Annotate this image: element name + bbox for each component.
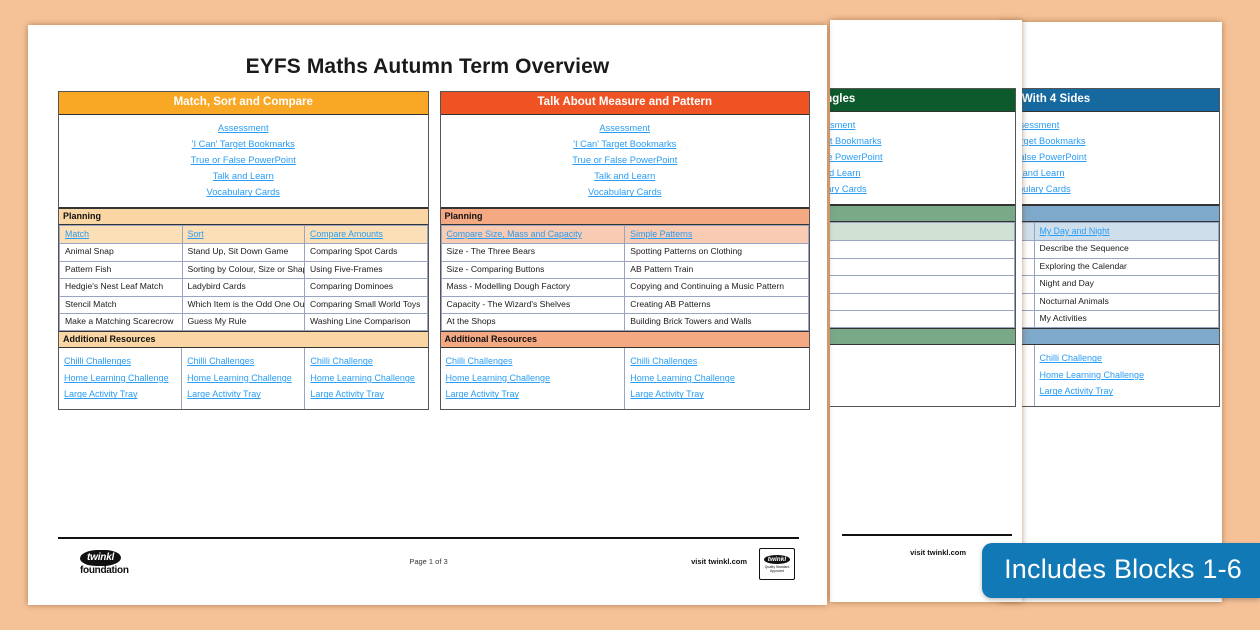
panel-header-green: Triangles bbox=[830, 89, 1015, 112]
panel-match-sort-compare: Match, Sort and Compare Assessment 'I Ca… bbox=[58, 91, 429, 410]
link-home-learning-challenge[interactable]: Home Learning Challenge bbox=[630, 370, 804, 387]
section-additional-2: Additional Resources bbox=[441, 331, 810, 348]
link-true-false-powerpoint[interactable]: True or False PowerPoint bbox=[1000, 149, 1219, 165]
quality-approved-stamp-icon: twinkl Quality Standard Approved bbox=[759, 548, 795, 580]
table-row: Size - Comparing ButtonsAB Pattern Train bbox=[441, 261, 809, 278]
links-block-green: Assessment 'I Can' Target Bookmarks True… bbox=[830, 112, 1015, 205]
table-row: SquaresExploring the Calendar bbox=[1000, 258, 1219, 275]
link-vocabulary-cards[interactable]: Vocabulary Cards bbox=[830, 181, 1015, 197]
link-home-learning-challenge[interactable]: Home Learning Challenge bbox=[64, 370, 176, 387]
includes-blocks-banner: Includes Blocks 1-6 bbox=[982, 543, 1260, 598]
visit-twinkl-label: visit twinkl.com bbox=[691, 557, 747, 566]
resource-column: Chilli Challenges Home Learning Challeng… bbox=[625, 348, 809, 409]
table-row: Small World Positional Language bbox=[830, 241, 1015, 258]
panel-blue: Shapes With 4 Sides Assessment 'I Can' T… bbox=[1000, 88, 1220, 407]
planning-table-green: Describing Position Small World Position… bbox=[830, 222, 1015, 329]
link-chilli-challenge[interactable]: Chilli Challenge bbox=[830, 350, 1010, 367]
stamp-wordmark: twinkl bbox=[764, 555, 790, 564]
visit-twinkl-label: visit twinkl.com bbox=[910, 548, 966, 557]
panel-header-blue: Shapes With 4 Sides bbox=[1000, 89, 1219, 112]
table-row: RectanglesNocturnal Animals bbox=[1000, 293, 1219, 310]
link-talk-and-learn[interactable]: Talk and Learn bbox=[830, 165, 1015, 181]
link-chilli-challenge[interactable]: Chilli Challenge bbox=[310, 353, 422, 370]
table-row: Describe the Sequence bbox=[1000, 241, 1219, 258]
link-assessment[interactable]: Assessment bbox=[441, 120, 810, 136]
table-row: At the ShopsBuilding Brick Towers and Wa… bbox=[441, 314, 809, 331]
table-header-row: Match Sort Compare Amounts bbox=[60, 225, 428, 243]
twinkl-foundation-label: foundation bbox=[80, 565, 142, 576]
section-additional-green: Additional Resources bbox=[830, 328, 1015, 345]
twinkl-wordmark: twinkl bbox=[80, 550, 121, 566]
table-row: Teddy Bear Hide-and-Seek bbox=[830, 311, 1015, 328]
link-home-learning-challenge[interactable]: Home Learning Challenge bbox=[187, 370, 299, 387]
document-page-front[interactable]: EYFS Maths Autumn Term Overview Match, S… bbox=[28, 25, 827, 605]
link-target-bookmarks[interactable]: 'I Can' Target Bookmarks bbox=[441, 136, 810, 152]
link-large-activity-tray[interactable]: Large Activity Tray bbox=[310, 386, 422, 403]
link-talk-and-learn[interactable]: Talk and Learn bbox=[59, 168, 428, 184]
link-target-bookmarks[interactable]: 'I Can' Target Bookmarks bbox=[830, 133, 1015, 149]
page-title: EYFS Maths Autumn Term Overview bbox=[28, 55, 827, 79]
table-row: Positional Language Traditional Tales Ma… bbox=[830, 293, 1015, 310]
link-true-false-powerpoint[interactable]: True or False PowerPoint bbox=[830, 149, 1015, 165]
resources-grid-green: Chilli Challenge Home Learning Challenge… bbox=[830, 345, 1015, 406]
link-large-activity-tray[interactable]: Large Activity Tray bbox=[830, 383, 1010, 400]
links-block-2: Assessment 'I Can' Target Bookmarks True… bbox=[441, 115, 810, 208]
resources-grid-2: Chilli Challenges Home Learning Challeng… bbox=[441, 348, 810, 409]
links-block-blue: Assessment 'I Can' Target Bookmarks True… bbox=[1000, 112, 1219, 205]
stamp-sublabel: Quality Standard Approved bbox=[760, 565, 794, 573]
section-additional-1: Additional Resources bbox=[59, 331, 428, 348]
table-row: Capacity - The Wizard's ShelvesCreating … bbox=[441, 296, 809, 313]
link-chilli-challenges[interactable]: Chilli Challenges bbox=[446, 353, 620, 370]
link-home-learning-challenge[interactable]: Home Learning Challenge bbox=[830, 367, 1010, 384]
link-true-false-powerpoint[interactable]: True or False PowerPoint bbox=[441, 152, 810, 168]
link-home-learning-challenge[interactable]: Home Learning Challenge bbox=[1040, 367, 1215, 384]
panel-green: Triangles Assessment 'I Can' Target Book… bbox=[830, 88, 1016, 407]
link-assessment[interactable]: Assessment bbox=[830, 117, 1015, 133]
resources-grid-1: Chilli Challenges Home Learning Challeng… bbox=[59, 348, 428, 409]
table-row: Stencil MatchWhich Item is the Odd One O… bbox=[60, 296, 428, 313]
panel-header-match-sort-compare: Match, Sort and Compare bbox=[59, 92, 428, 115]
page-stack: Shapes With 4 Sides Assessment 'I Can' T… bbox=[0, 0, 1260, 630]
link-vocabulary-cards[interactable]: Vocabulary Cards bbox=[1000, 181, 1219, 197]
link-home-learning-challenge[interactable]: Home Learning Challenge bbox=[310, 370, 422, 387]
planning-table-1: Match Sort Compare Amounts Animal SnapSt… bbox=[59, 225, 428, 332]
link-chilli-challenge[interactable]: Chilli Challenge bbox=[1040, 350, 1215, 367]
table-row: Animal SnapStand Up, Sit Down GameCompar… bbox=[60, 244, 428, 261]
planning-table-2: Compare Size, Mass and Capacity Simple P… bbox=[441, 225, 810, 332]
twinkl-logo: twinkl foundation bbox=[80, 547, 142, 581]
table-header-row: Compare Size, Mass and Capacity Simple P… bbox=[441, 225, 809, 243]
link-vocabulary-cards[interactable]: Vocabulary Cards bbox=[59, 184, 428, 200]
link-large-activity-tray[interactable]: Large Activity Tray bbox=[630, 386, 804, 403]
table-row: Hedgie's Nest Leaf MatchLadybird CardsCo… bbox=[60, 279, 428, 296]
section-planning-1: Planning bbox=[59, 208, 428, 225]
section-planning-blue: Planning bbox=[1000, 205, 1219, 222]
section-additional-blue: Additional Resources bbox=[1000, 328, 1219, 345]
link-large-activity-tray[interactable]: Large Activity Tray bbox=[64, 386, 176, 403]
planning-table-blue: Shapes My Day and Night Describe the Seq… bbox=[1000, 222, 1219, 329]
table-row: Night and Day bbox=[1000, 276, 1219, 293]
col-head-compare-amounts: Compare Amounts bbox=[305, 225, 428, 243]
table-row: Size - The Three BearsSpotting Patterns … bbox=[441, 244, 809, 261]
section-planning-2: Planning bbox=[441, 208, 810, 225]
col-head-compare-size-mass-capacity: Compare Size, Mass and Capacity bbox=[441, 225, 625, 243]
footer-front: twinkl foundation Page 1 of 3 visit twin… bbox=[58, 537, 799, 585]
link-large-activity-tray[interactable]: Large Activity Tray bbox=[1040, 383, 1215, 400]
col-head-simple-patterns: Simple Patterns bbox=[625, 225, 809, 243]
page-number: Page 1 of 3 bbox=[409, 557, 447, 566]
link-assessment[interactable]: Assessment bbox=[1000, 117, 1219, 133]
table-header-row: Describing Position bbox=[830, 222, 1015, 240]
col-head-sort: Sort bbox=[182, 225, 305, 243]
link-home-learning-challenge[interactable]: Home Learning Challenge bbox=[446, 370, 620, 387]
link-vocabulary-cards[interactable]: Vocabulary Cards bbox=[441, 184, 810, 200]
document-page-blue[interactable]: Shapes With 4 Sides Assessment 'I Can' T… bbox=[1000, 22, 1222, 602]
link-chilli-challenges[interactable]: Chilli Challenges bbox=[64, 353, 176, 370]
resources-grid-blue: Large Activity Tray Chilli Challenge Hom… bbox=[1000, 345, 1219, 406]
table-header-row: Shapes My Day and Night bbox=[1000, 222, 1219, 240]
link-target-bookmarks[interactable]: 'I Can' Target Bookmarks bbox=[1000, 133, 1219, 149]
panel-header-talk-about-measure-and-pattern: Talk About Measure and Pattern bbox=[441, 92, 810, 115]
resource-column: Chilli Challenge Home Learning Challenge… bbox=[305, 348, 427, 409]
link-target-bookmarks[interactable]: 'I Can' Target Bookmarks bbox=[59, 136, 428, 152]
table-row: Pattern FishSorting by Colour, Size or S… bbox=[60, 261, 428, 278]
table-row: My Activities bbox=[1000, 311, 1219, 328]
document-page-green[interactable]: Triangles Assessment 'I Can' Target Book… bbox=[830, 20, 1022, 602]
link-talk-and-learn[interactable]: Talk and Learn bbox=[1000, 165, 1219, 181]
col-head-my-day-night: My Day and Night bbox=[1034, 222, 1219, 240]
table-row: Mass - Modelling Dough FactoryCopying an… bbox=[441, 279, 809, 296]
panel-talk-about-measure-and-pattern: Talk About Measure and Pattern Assessmen… bbox=[440, 91, 811, 410]
resource-column: Chilli Challenge Home Learning Challenge… bbox=[830, 345, 1015, 406]
table-row: Positional Language Using Pictures bbox=[830, 258, 1015, 275]
resource-column: Chilli Challenge Home Learning Challenge… bbox=[1035, 345, 1220, 406]
link-large-activity-tray[interactable]: Large Activity Tray bbox=[446, 386, 620, 403]
col-head-match: Match bbox=[60, 225, 183, 243]
resource-column: Chilli Challenges Home Learning Challeng… bbox=[59, 348, 182, 409]
link-chilli-challenges[interactable]: Chilli Challenges bbox=[630, 353, 804, 370]
links-block-1: Assessment 'I Can' Target Bookmarks True… bbox=[59, 115, 428, 208]
table-row: Make a Matching ScarecrowGuess My RuleWa… bbox=[60, 314, 428, 331]
link-talk-and-learn[interactable]: Talk and Learn bbox=[441, 168, 810, 184]
col-head-describing-position: Describing Position bbox=[830, 222, 1015, 240]
table-row: Positional Language Obstacle Course bbox=[830, 276, 1015, 293]
section-planning-green: Planning bbox=[830, 205, 1015, 222]
resource-column: Chilli Challenges Home Learning Challeng… bbox=[182, 348, 305, 409]
panels-container: Match, Sort and Compare Assessment 'I Ca… bbox=[58, 91, 810, 410]
link-assessment[interactable]: Assessment bbox=[59, 120, 428, 136]
resource-column: Chilli Challenges Home Learning Challeng… bbox=[441, 348, 626, 409]
link-large-activity-tray[interactable]: Large Activity Tray bbox=[187, 386, 299, 403]
link-true-false-powerpoint[interactable]: True or False PowerPoint bbox=[59, 152, 428, 168]
link-chilli-challenges[interactable]: Chilli Challenges bbox=[187, 353, 299, 370]
